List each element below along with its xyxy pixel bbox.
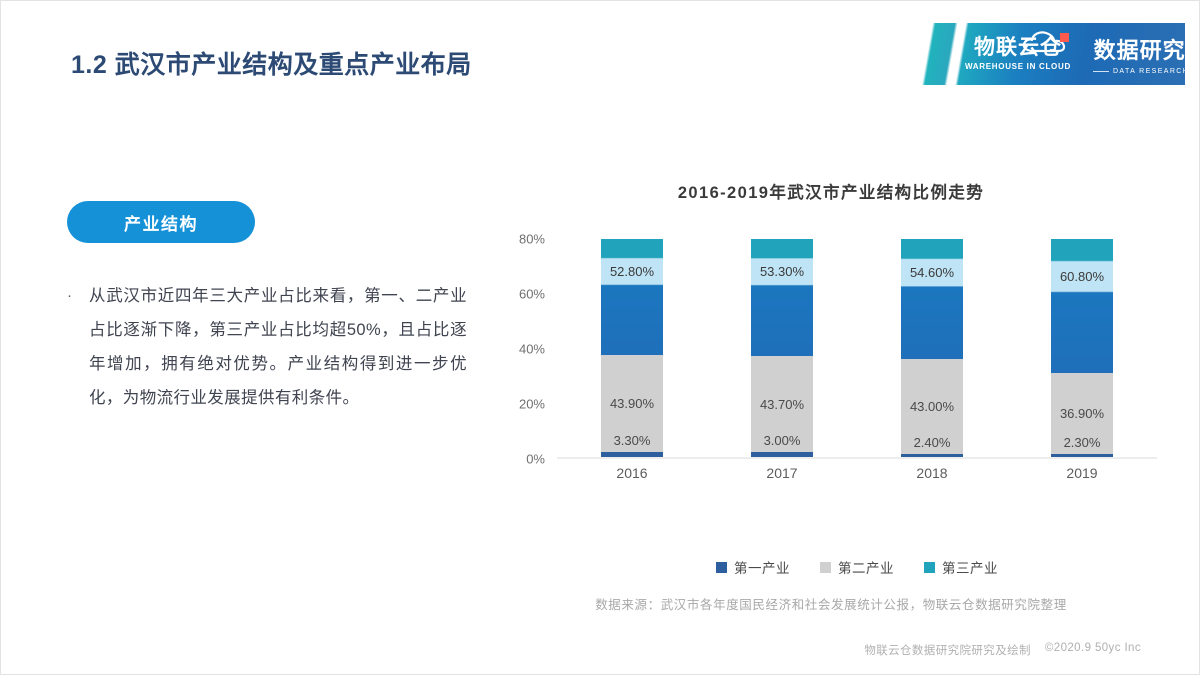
bar-value-label: 54.60% xyxy=(901,259,963,285)
page-title: 1.2 武汉市产业结构及重点产业布局 xyxy=(71,45,472,81)
body-paragraph-block: · 从武汉市近四年三大产业占比来看，第一、二产业占比逐渐下降，第三产业占比均超5… xyxy=(67,279,467,415)
bar-value-label: 3.00% xyxy=(751,433,813,448)
chart-plot-area: 0%20%40%60%80% 52.80%43.90%3.30%53.30%43… xyxy=(501,239,1161,459)
plot-region: 52.80%43.90%3.30%53.30%43.70%3.00%54.60%… xyxy=(557,239,1157,459)
legend-swatch xyxy=(924,562,935,573)
x-axis-tick: 2017 xyxy=(751,465,813,481)
logo-brand-cn: 物联云仓 xyxy=(974,37,1062,59)
y-axis-tick: 80% xyxy=(519,232,545,247)
bar-segment[interactable]: 60.80% xyxy=(1051,239,1113,373)
bar-value-label: 3.30% xyxy=(601,433,663,448)
chart-legend: 第一产业第二产业第三产业 xyxy=(557,557,1157,577)
bar-group: 52.80%43.90%3.30%53.30%43.70%3.00%54.60%… xyxy=(557,239,1157,459)
bar-value-label: 60.80% xyxy=(1051,262,1113,291)
y-axis-tick: 0% xyxy=(526,452,545,467)
chart-source-note: 数据来源：武汉市各年度国民经济和社会发展统计公报，物联云仓数据研究院整理 xyxy=(501,594,1161,613)
bar-segment[interactable]: 53.30% xyxy=(751,239,813,356)
chart-container: 2016-2019年武汉市产业结构比例走势 0%20%40%60%80% 52.… xyxy=(501,171,1161,571)
bar-value-label: 2.30% xyxy=(1051,435,1113,450)
x-axis-tick: 2019 xyxy=(1051,465,1113,481)
bar-value-label: 43.70% xyxy=(760,397,804,412)
x-axis: 2016201720182019 xyxy=(557,465,1157,481)
legend-label: 第三产业 xyxy=(942,557,998,577)
logo-unit-cn: 数据研究院 xyxy=(1094,33,1185,65)
bar-column[interactable]: 54.60%43.00%2.40% xyxy=(901,239,963,459)
legend-swatch xyxy=(716,562,727,573)
bar-segment[interactable]: 52.80% xyxy=(601,239,663,355)
x-axis-tick: 2018 xyxy=(901,465,963,481)
legend-label: 第一产业 xyxy=(734,557,790,577)
legend-item[interactable]: 第一产业 xyxy=(716,557,790,577)
bar-value-label: 2.40% xyxy=(901,435,963,450)
axis-baseline xyxy=(557,457,1157,459)
y-axis-tick: 20% xyxy=(519,397,545,412)
bar-column[interactable]: 53.30%43.70%3.00% xyxy=(751,239,813,459)
legend-item[interactable]: 第二产业 xyxy=(820,557,894,577)
x-axis-tick: 2016 xyxy=(601,465,663,481)
logo-secondary: 数据研究院 DATA RESEARCH xyxy=(1093,33,1185,75)
slide-footer: 物联云仓数据研究院研究及绘制 ©2020.9 50yc Inc xyxy=(864,642,1141,658)
bar-column[interactable]: 52.80%43.90%3.30% xyxy=(601,239,663,459)
footer-copyright: ©2020.9 50yc Inc xyxy=(1045,642,1141,658)
bar-column[interactable]: 60.80%36.90%2.30% xyxy=(1051,239,1113,459)
legend-swatch xyxy=(820,562,831,573)
logo-brand-en: WAREHOUSE IN CLOUD xyxy=(965,62,1071,71)
legend-label: 第二产业 xyxy=(838,557,894,577)
bar-value-label: 43.90% xyxy=(610,396,654,411)
bar-value-label: 36.90% xyxy=(1060,406,1104,421)
bar-value-label: 52.80% xyxy=(601,259,663,285)
body-paragraph: 从武汉市近四年三大产业占比来看，第一、二产业占比逐渐下降，第三产业占比均超50%… xyxy=(89,279,467,415)
bar-value-label: 53.30% xyxy=(751,259,813,285)
legend-item[interactable]: 第三产业 xyxy=(924,557,998,577)
section-badge: 产业结构 xyxy=(67,201,255,243)
bar-segment[interactable]: 54.60% xyxy=(901,239,963,359)
y-axis-tick: 60% xyxy=(519,287,545,302)
logo-unit-en: DATA RESEARCH xyxy=(1093,68,1185,75)
bullet-marker: · xyxy=(67,279,89,415)
bar-value-label: 43.00% xyxy=(910,399,954,414)
y-axis: 0%20%40%60%80% xyxy=(501,239,553,459)
logo-primary: 物联云仓 WAREHOUSE IN CLOUD xyxy=(965,37,1071,70)
footer-credit: 物联云仓数据研究院研究及绘制 xyxy=(864,642,1031,658)
slide-canvas: 1.2 武汉市产业结构及重点产业布局 物联云仓 WAREHOUSE IN CLO… xyxy=(0,0,1200,675)
brand-logo: 物联云仓 WAREHOUSE IN CLOUD 数据研究院 DATA RESEA… xyxy=(919,23,1185,85)
chart-title: 2016-2019年武汉市产业结构比例走势 xyxy=(501,179,1161,203)
y-axis-tick: 40% xyxy=(519,342,545,357)
